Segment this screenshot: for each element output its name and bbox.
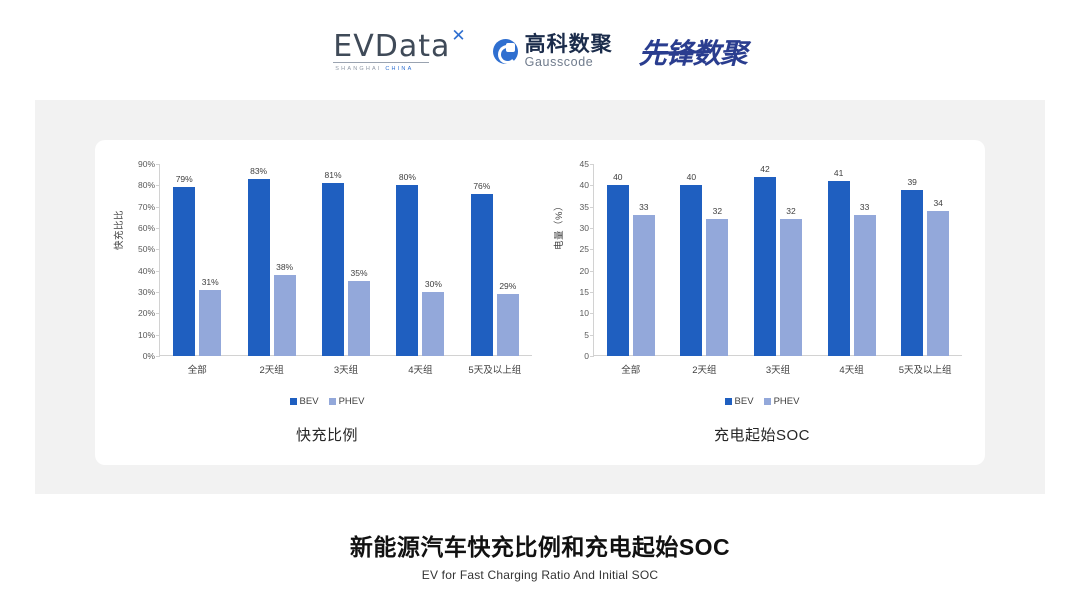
bar-value-label: 80% xyxy=(399,172,416,182)
left-chart-legend: BEV PHEV xyxy=(107,396,547,407)
legend-item-bev: BEV xyxy=(725,396,754,407)
left-chart-bars: 79%31%83%38%81%35%80%30%76%29% xyxy=(160,164,532,356)
evdata-subtitle: SHANGHAI CHINA xyxy=(335,66,413,72)
bar-value-label: 41 xyxy=(834,168,843,178)
y-tick-label: 25 xyxy=(580,244,589,254)
y-tick-label: 20 xyxy=(580,266,589,276)
bar-value-label: 35% xyxy=(351,268,368,278)
y-tick-label: 60% xyxy=(138,223,155,233)
bar-bev: 40 xyxy=(680,185,702,356)
x-axis-label: 3天组 xyxy=(309,362,383,376)
bar-bev: 83% xyxy=(248,179,270,356)
legend-swatch-phev xyxy=(764,398,771,405)
bar-group: 4033 xyxy=(594,164,668,356)
gausscode-en-label: Gausscode xyxy=(525,56,613,69)
y-tick-label: 10% xyxy=(138,330,155,340)
evdata-underline xyxy=(333,62,429,63)
bar-value-label: 81% xyxy=(325,170,342,180)
bar-group: 81%35% xyxy=(309,164,383,356)
y-tick-mark xyxy=(156,356,160,357)
x-axis-label: 5天及以上组 xyxy=(458,362,532,376)
xianfeng-logo: 先锋数聚 xyxy=(639,32,747,72)
bar-phev: 38% xyxy=(274,275,296,356)
evdata-data-text: Data xyxy=(375,32,451,62)
right-chart-title: 充电起始SOC xyxy=(547,424,977,445)
bar-group: 76%29% xyxy=(458,164,532,356)
right-chart-legend: BEV PHEV xyxy=(547,396,977,407)
slide-page: EVData✕ SHANGHAI CHINA 高科数聚 Gausscode 先锋… xyxy=(0,0,1080,608)
y-tick-label: 20% xyxy=(138,308,155,318)
y-tick-label: 40% xyxy=(138,266,155,276)
gausscode-text: 高科数聚 Gausscode xyxy=(525,34,613,69)
x-axis-label: 5天及以上组 xyxy=(888,362,962,376)
legend-swatch-bev xyxy=(290,398,297,405)
bar-value-label: 40 xyxy=(687,172,696,182)
bar-group: 4232 xyxy=(741,164,815,356)
evdata-sub-left: SHANGHAI xyxy=(335,66,385,72)
bar-phev: 34 xyxy=(927,211,949,356)
bar-value-label: 79% xyxy=(176,174,193,184)
y-tick-label: 0% xyxy=(143,351,155,361)
bar-bev: 39 xyxy=(901,190,923,356)
bar-value-label: 42 xyxy=(760,164,769,174)
right-chart-plot: 051015202530354045 40334032423241333934 … xyxy=(593,164,962,356)
bar-value-label: 39 xyxy=(907,177,916,187)
bar-phev: 30% xyxy=(422,292,444,356)
x-axis-label: 4天组 xyxy=(815,362,889,376)
gausscode-cn-label: 高科数聚 xyxy=(525,34,613,56)
y-tick-label: 70% xyxy=(138,202,155,212)
evdata-sub-right: CHINA xyxy=(385,66,413,72)
bar-value-label: 76% xyxy=(473,181,490,191)
legend-label-bev: BEV xyxy=(735,396,754,407)
bar-group: 83%38% xyxy=(234,164,308,356)
legend-label-phev: PHEV xyxy=(339,396,365,407)
y-tick-label: 90% xyxy=(138,159,155,169)
bar-value-label: 40 xyxy=(613,172,622,182)
bar-group: 80%30% xyxy=(383,164,457,356)
x-axis-label: 全部 xyxy=(160,362,234,376)
bar-value-label: 32 xyxy=(713,206,722,216)
chart-fast-charging-ratio: 快充比比 0%10%20%30%40%50%60%70%80%90% 79%31… xyxy=(107,158,547,458)
y-tick-label: 80% xyxy=(138,180,155,190)
legend-item-phev: PHEV xyxy=(764,396,800,407)
evdata-x-icon: ✕ xyxy=(451,28,466,45)
evdata-wordmark: EVData✕ xyxy=(333,32,466,62)
x-axis-label: 2天组 xyxy=(668,362,742,376)
right-chart-ylabel: 电量（%） xyxy=(551,201,565,250)
bar-phev: 35% xyxy=(348,281,370,356)
bar-phev: 33 xyxy=(633,215,655,356)
y-tick-label: 30% xyxy=(138,287,155,297)
legend-label-bev: BEV xyxy=(300,396,319,407)
legend-swatch-bev xyxy=(725,398,732,405)
bar-bev: 40 xyxy=(607,185,629,356)
left-chart-plot: 0%10%20%30%40%50%60%70%80%90% 79%31%83%3… xyxy=(159,164,532,356)
bar-value-label: 33 xyxy=(639,202,648,212)
bar-value-label: 31% xyxy=(202,277,219,287)
x-axis-label: 4天组 xyxy=(383,362,457,376)
bar-value-label: 32 xyxy=(786,206,795,216)
legend-swatch-phev xyxy=(329,398,336,405)
y-tick-label: 15 xyxy=(580,287,589,297)
y-tick-label: 45 xyxy=(580,159,589,169)
footer-title-en: EV for Fast Charging Ratio And Initial S… xyxy=(0,568,1080,582)
y-tick-label: 5 xyxy=(584,330,589,340)
left-chart-title: 快充比例 xyxy=(107,424,547,445)
bar-group: 4032 xyxy=(668,164,742,356)
chart-card: 快充比比 0%10%20%30%40%50%60%70%80%90% 79%31… xyxy=(95,140,985,465)
bar-value-label: 33 xyxy=(860,202,869,212)
bar-bev: 41 xyxy=(828,181,850,356)
right-chart-xlabels: 全部2天组3天组4天组5天及以上组 xyxy=(594,362,962,376)
bar-value-label: 34 xyxy=(933,198,942,208)
left-chart-xlabels: 全部2天组3天组4天组5天及以上组 xyxy=(160,362,532,376)
legend-item-bev: BEV xyxy=(290,396,319,407)
bar-group: 4133 xyxy=(815,164,889,356)
y-tick-label: 30 xyxy=(580,223,589,233)
gausscode-circle-icon xyxy=(493,39,518,64)
x-axis-label: 全部 xyxy=(594,362,668,376)
bar-value-label: 38% xyxy=(276,262,293,272)
bar-bev: 80% xyxy=(396,185,418,356)
logo-bar: EVData✕ SHANGHAI CHINA 高科数聚 Gausscode 先锋… xyxy=(0,22,1080,82)
gausscode-logo: 高科数聚 Gausscode xyxy=(493,34,613,69)
x-axis-label: 3天组 xyxy=(741,362,815,376)
slide-footer: 新能源汽车快充比例和充电起始SOC EV for Fast Charging R… xyxy=(0,528,1080,582)
bar-group: 3934 xyxy=(888,164,962,356)
bar-value-label: 83% xyxy=(250,166,267,176)
x-axis-label: 2天组 xyxy=(234,362,308,376)
bar-phev: 29% xyxy=(497,294,519,356)
bar-bev: 79% xyxy=(173,187,195,356)
legend-item-phev: PHEV xyxy=(329,396,365,407)
bar-bev: 81% xyxy=(322,183,344,356)
bar-value-label: 30% xyxy=(425,279,442,289)
bar-phev: 31% xyxy=(199,290,221,356)
left-chart-ylabel: 快充比比 xyxy=(111,210,125,250)
evdata-logo: EVData✕ SHANGHAI CHINA xyxy=(333,32,466,72)
y-tick-mark xyxy=(590,356,594,357)
y-tick-label: 10 xyxy=(580,308,589,318)
legend-label-phev: PHEV xyxy=(774,396,800,407)
chart-initial-soc: 电量（%） 051015202530354045 403340324232413… xyxy=(547,158,977,458)
bar-phev: 33 xyxy=(854,215,876,356)
evdata-ev-text: EV xyxy=(333,32,374,62)
bar-group: 79%31% xyxy=(160,164,234,356)
footer-title-cn: 新能源汽车快充比例和充电起始SOC xyxy=(0,528,1080,562)
bar-bev: 42 xyxy=(754,177,776,356)
y-tick-label: 0 xyxy=(584,351,589,361)
bar-bev: 76% xyxy=(471,194,493,356)
bar-phev: 32 xyxy=(780,219,802,356)
y-tick-label: 40 xyxy=(580,180,589,190)
content-panel: 快充比比 0%10%20%30%40%50%60%70%80%90% 79%31… xyxy=(35,100,1045,494)
right-chart-bars: 40334032423241333934 xyxy=(594,164,962,356)
y-tick-label: 35 xyxy=(580,202,589,212)
bar-value-label: 29% xyxy=(499,281,516,291)
y-tick-label: 50% xyxy=(138,244,155,254)
bar-phev: 32 xyxy=(706,219,728,356)
